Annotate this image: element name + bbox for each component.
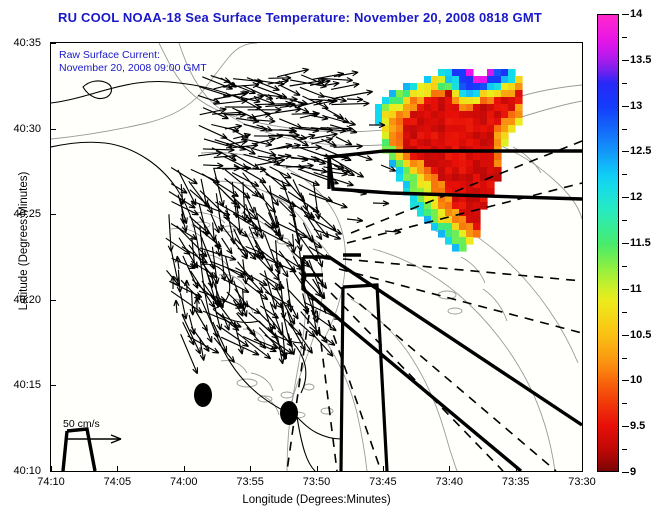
sst-pixel [452,216,460,224]
y-tick-label: 40:15 [0,379,41,391]
sst-pixel [417,195,425,203]
sst-pixel [459,244,467,252]
sst-pixel [459,202,467,210]
sst-pixel [459,160,467,168]
sst-pixel [403,160,411,168]
sst-pixel [424,118,432,126]
colorbar-tick [622,403,627,404]
sst-pixel [508,76,516,84]
sst-pixel [424,160,432,168]
x-tick [117,466,118,472]
sst-pixel [452,153,460,161]
x-tick-label: 73:55 [236,476,264,488]
sst-pixel [480,181,488,189]
y-tick-label: 40:35 [0,37,41,49]
sst-pixel [515,83,523,91]
sst-pixel [459,181,467,189]
sst-pixel [431,181,439,189]
sst-pixel [424,209,432,217]
sst-pixel [382,104,390,112]
sst-pixel [480,132,488,140]
sst-pixel [396,125,404,133]
sst-pixel [466,83,474,91]
current-vector [265,292,291,307]
sst-pixel [494,139,502,147]
sst-pixel [389,90,397,98]
colorbar-tick [622,106,629,107]
sst-pixel [466,90,474,98]
sst-pixel [494,104,502,112]
sst-pixel [382,97,390,105]
sst-pixel [431,202,439,210]
sst-pixel [494,111,502,119]
sst-pixel [466,153,474,161]
sst-pixel [431,160,439,168]
sst-pixel [431,104,439,112]
colorbar-tick [622,220,627,221]
colorbar-tick [622,60,629,61]
sst-pixel [459,174,467,182]
sst-pixel [466,125,474,133]
sst-raster [375,69,523,252]
sst-pixel [501,83,509,91]
sst-pixel [424,83,432,91]
sst-pixel [494,153,502,161]
sst-pixel [417,181,425,189]
sst-pixel [494,160,502,168]
sst-pixel [417,97,425,105]
sst-pixel [438,139,446,147]
sst-pixel [438,90,446,98]
sst-pixel [473,111,481,119]
x-tick-label: 73:30 [568,476,596,488]
sst-pixel [508,111,516,119]
sst-pixel [487,90,495,98]
sst-pixel [417,125,425,133]
current-vector [245,193,255,214]
y-tick [50,385,56,386]
sst-pixel [438,132,446,140]
sst-pixel [452,118,460,126]
current-vector [254,134,283,139]
sst-pixel [459,69,467,77]
sst-pixel [424,97,432,105]
sst-pixel [473,118,481,126]
x-axis-title: Longitude (Degrees:Minutes) [50,494,583,506]
sst-pixel [466,69,474,77]
sst-pixel [452,167,460,175]
sst-pixel [480,90,488,98]
sst-pixel [424,132,432,140]
sst-pixel [410,181,418,189]
sst-pixel [494,76,502,84]
sst-pixel [452,160,460,168]
sst-pixel [410,139,418,147]
sst-pixel [459,139,467,147]
colorbar-label: 10.5 [630,329,651,341]
sst-pixel [431,216,439,224]
current-vector [166,238,190,254]
sst-map-figure: RU COOL NOAA-18 Sea Surface Temperature:… [0,0,660,519]
sst-pixel [403,174,411,182]
sst-pixel [480,160,488,168]
station-marker-1[interactable] [194,383,212,407]
current-vector [204,325,212,343]
sst-pixel [389,153,397,161]
scale-bar-arrow-icon [63,432,133,446]
sst-pixel [473,76,481,84]
sst-pixel [466,167,474,175]
sst-pixel [501,90,509,98]
sst-pixel [445,139,453,147]
sst-pixel [487,76,495,84]
sst-pixel [480,83,488,91]
sst-pixel [431,209,439,217]
current-vector [347,97,363,102]
sst-pixel [438,104,446,112]
sst-pixel [508,90,516,98]
sst-pixel [515,118,523,126]
station-marker-2[interactable] [280,401,298,425]
current-vector [233,79,263,84]
sst-pixel [501,76,509,84]
scale-bar-label: 50 cm/s [63,418,133,430]
sst-pixel [466,76,474,84]
sst-pixel [452,237,460,245]
sst-pixel [452,76,460,84]
annotation-line-2: November 20, 2008 09:00 GMT [59,62,207,75]
sst-pixel [487,83,495,91]
sst-pixel [389,104,397,112]
sst-pixel [459,223,467,231]
x-tick [317,466,318,472]
sst-pixel [487,111,495,119]
sst-pixel [494,174,502,182]
sst-pixel [403,181,411,189]
sst-pixel [396,174,404,182]
sst-pixel [466,216,474,224]
x-tick-label: 73:35 [502,476,530,488]
sst-pixel [452,139,460,147]
sst-pixel [396,111,404,119]
sst-pixel [508,97,516,105]
sst-pixel [487,104,495,112]
sst-pixel [466,230,474,238]
sst-pixel [445,132,453,140]
sst-pixel [410,132,418,140]
sst-pixel [445,69,453,77]
current-vector [282,180,294,211]
sst-pixel [480,174,488,182]
annotation-line-1: Raw Surface Current: [59,49,207,62]
current-vector [334,71,358,77]
sst-pixel [417,104,425,112]
colorbar-tick [622,243,629,244]
sst-pixel [396,160,404,168]
colorbar-gradient [598,15,618,471]
sst-pixel [445,118,453,126]
sst-pixel [424,167,432,175]
colorbar-tick [622,151,629,152]
sst-pixel [459,90,467,98]
sst-pixel [473,83,481,91]
sst-pixel [487,97,495,105]
sst-pixel [445,167,453,175]
x-tick [250,466,251,472]
sst-pixel [389,111,397,119]
sst-pixel [480,139,488,147]
sst-pixel [389,160,397,168]
sst-pixel [466,174,474,182]
colorbar-tick [622,472,629,473]
sst-pixel [452,83,460,91]
sst-pixel [473,90,481,98]
sst-pixel [382,111,390,119]
sst-pixel [417,160,425,168]
colorbar-tick [622,335,629,336]
sst-pixel [494,83,502,91]
colorbar-tick [622,83,627,84]
sst-pixel [403,167,411,175]
sst-pixel [466,223,474,231]
current-annotation: Raw Surface Current: November 20, 2008 0… [59,49,207,75]
sst-pixel [424,125,432,133]
sst-pixel [445,237,453,245]
x-tick-label: 74:00 [170,476,198,488]
x-tick [184,466,185,472]
sst-pixel [466,209,474,217]
x-tick-label: 73:50 [303,476,331,488]
sst-pixel [389,132,397,140]
sst-pixel [487,132,495,140]
sst-pixel [438,181,446,189]
sst-pixel [438,76,446,84]
colorbar-tick [622,312,627,313]
sst-pixel [466,132,474,140]
sst-pixel [515,104,523,112]
sst-pixel [515,90,523,98]
sst-pixel [480,111,488,119]
current-vector [313,182,320,220]
sst-pixel [438,202,446,210]
sst-pixel [459,132,467,140]
sst-pixel [487,160,495,168]
colorbar[interactable] [597,14,619,472]
sst-pixel [403,97,411,105]
sst-pixel [445,153,453,161]
sst-pixel [403,83,411,91]
sst-pixel [417,83,425,91]
sst-pixel [445,202,453,210]
sst-pixel [459,125,467,133]
sst-pixel [410,125,418,133]
sst-pixel [438,230,446,238]
sst-pixel [515,111,523,119]
current-vector [331,101,369,106]
map-plot-area[interactable]: Raw Surface Current: November 20, 2008 0… [50,42,583,472]
colorbar-tick [622,174,627,175]
sst-pixel [396,132,404,140]
colorbar-tick [622,266,627,267]
sst-pixel [438,69,446,77]
sst-pixel [501,111,509,119]
sst-pixel [396,97,404,105]
sst-pixel [466,160,474,168]
sst-pixel [501,132,509,140]
sst-pixel [410,111,418,119]
sst-pixel [459,97,467,105]
sst-pixel [431,118,439,126]
current-vector [176,256,181,269]
y-tick [50,214,56,215]
current-vector [182,314,200,354]
sst-pixel [396,104,404,112]
sst-pixel [431,90,439,98]
sst-pixel [431,167,439,175]
sst-pixel [515,76,523,84]
sst-pixel [396,118,404,126]
sst-pixel [494,118,502,126]
sst-pixel [403,104,411,112]
sst-pixel [473,104,481,112]
sst-pixel [452,244,460,252]
sst-pixel [473,223,481,231]
sst-pixel [473,139,481,147]
sst-pixel [438,118,446,126]
sst-pixel [501,69,509,77]
colorbar-tick [622,289,629,290]
sst-pixel [382,132,390,140]
sst-pixel [459,230,467,238]
sst-pixel [480,118,488,126]
current-vector [221,248,227,281]
sst-pixel [459,216,467,224]
sst-pixel [452,181,460,189]
colorbar-label: 12.5 [630,145,651,157]
sst-pixel [445,104,453,112]
sst-pixel [417,139,425,147]
sst-pixel [410,104,418,112]
sst-pixel [431,139,439,147]
current-vector [373,201,389,206]
sst-pixel [424,104,432,112]
sst-pixel [487,118,495,126]
current-vector [227,292,242,306]
sst-pixel [396,167,404,175]
sst-pixel [396,90,404,98]
sst-pixel [452,230,460,238]
sst-pixel [417,111,425,119]
y-tick [50,300,56,301]
current-vector [180,293,187,319]
current-vector [309,194,347,208]
current-vector [291,234,296,253]
sst-pixel [494,132,502,140]
sst-pixel [445,209,453,217]
sst-pixel [445,97,453,105]
x-tick-label: 73:40 [435,476,463,488]
colorbar-label: 13 [630,100,642,112]
y-tick [50,43,56,44]
sst-pixel [452,223,460,231]
colorbar-label: 9.5 [630,420,645,432]
colorbar-tick [622,129,627,130]
sst-pixel [403,90,411,98]
sst-pixel [417,167,425,175]
sst-pixel [431,223,439,231]
sst-pixel [445,90,453,98]
sst-pixel [459,111,467,119]
sst-pixel [410,153,418,161]
sst-pixel [487,69,495,77]
x-tick [516,466,517,472]
sst-pixel [452,104,460,112]
sst-pixel [473,167,481,175]
sst-pixel [417,153,425,161]
colorbar-label: 10 [630,374,642,386]
colorbar-label: 14 [630,8,642,20]
sst-pixel [452,125,460,133]
y-axis-title: Latitude (Degrees:Minutes) [18,121,30,361]
sst-pixel [445,160,453,168]
sst-pixel [473,125,481,133]
sst-pixel [452,111,460,119]
current-vector [335,90,372,98]
sst-pixel [494,90,502,98]
sst-pixel [473,230,481,238]
current-vector [312,133,338,139]
current-vector [300,87,325,97]
x-tick-label: 74:05 [104,476,132,488]
sst-pixel [403,111,411,119]
sst-pixel [459,76,467,84]
colorbar-tick [622,197,629,198]
sst-pixel [445,223,453,231]
sst-pixel [459,104,467,112]
sst-pixel [424,111,432,119]
current-vector [265,107,301,114]
colorbar-label: 11.5 [630,237,651,249]
sst-pixel [382,139,390,147]
sst-pixel [424,153,432,161]
sst-pixel [417,90,425,98]
sst-pixel [473,153,481,161]
sst-pixel [480,125,488,133]
sst-pixel [466,118,474,126]
sst-pixel [375,111,383,119]
sst-pixel [417,209,425,217]
sst-pixel [501,125,509,133]
sst-pixel [480,76,488,84]
current-vector [195,298,200,311]
current-vector [226,267,244,277]
sst-pixel [445,111,453,119]
sst-pixel [431,132,439,140]
sst-pixel [473,160,481,168]
sst-pixel [445,174,453,182]
sst-pixel [396,153,404,161]
sst-pixel [452,132,460,140]
colorbar-label: 11 [630,283,642,295]
current-vector [222,238,232,254]
current-vector [201,300,218,338]
sst-pixel [466,237,474,245]
sst-pixel [473,216,481,224]
sst-pixel [480,153,488,161]
sst-pixel [480,202,488,210]
sst-pixel [515,97,523,105]
current-vector [174,300,179,313]
